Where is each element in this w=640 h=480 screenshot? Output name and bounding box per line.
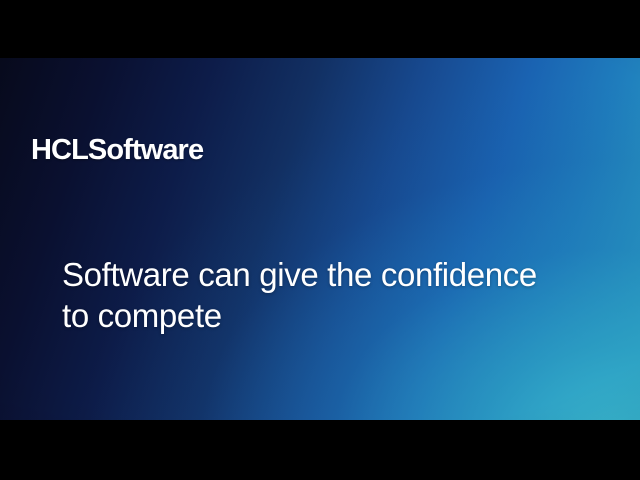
letterbox-bar-top bbox=[0, 0, 640, 58]
slide-background-gradient bbox=[0, 58, 640, 420]
headline-line-1: Software can give the confidence bbox=[62, 254, 602, 295]
slide-headline: Software can give the confidence to comp… bbox=[62, 254, 602, 336]
video-frame: HCLSoftware Software can give the confid… bbox=[0, 0, 640, 480]
presentation-slide: HCLSoftware Software can give the confid… bbox=[0, 58, 640, 420]
headline-line-2: to compete bbox=[62, 295, 602, 336]
hcl-software-logo: HCLSoftware bbox=[31, 134, 203, 166]
